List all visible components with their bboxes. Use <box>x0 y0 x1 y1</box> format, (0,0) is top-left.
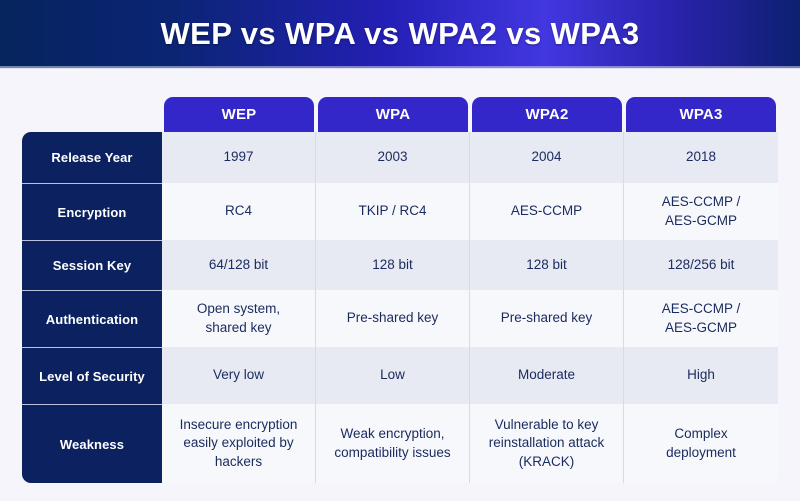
table-cell: RC4 <box>162 183 316 240</box>
row-label-session-key: Session Key <box>22 240 162 290</box>
cell-text: Moderate <box>518 366 575 384</box>
table-cell: Very low <box>162 347 316 404</box>
cell-text: 2018 <box>686 148 716 166</box>
column-header-wpa3: WPA3 <box>626 97 776 132</box>
table-cell: 2003 <box>316 132 470 183</box>
table-cell: 2018 <box>624 132 778 183</box>
table-cell: Open system,shared key <box>162 290 316 347</box>
row-label-weakness: Weakness <box>22 404 162 483</box>
cell-text: 1997 <box>223 148 253 166</box>
table-cell: AES-CCMP /AES-GCMP <box>624 290 778 347</box>
table-cell: Insecure encryptioneasily exploited byha… <box>162 404 316 483</box>
row-label-level-of-security: Level of Security <box>22 347 162 404</box>
row-label-encryption: Encryption <box>22 183 162 240</box>
cell-text: Pre-shared key <box>501 309 593 327</box>
cell-text: 2003 <box>377 148 407 166</box>
cell-text: Vulnerable to keyreinstallation attack(K… <box>489 416 605 471</box>
table-cell: 2004 <box>470 132 624 183</box>
table-cell: Pre-shared key <box>470 290 624 347</box>
cell-text: Open system,shared key <box>197 300 280 336</box>
table-cell: Pre-shared key <box>316 290 470 347</box>
cell-text: TKIP / RC4 <box>358 202 426 220</box>
table-cell: Moderate <box>470 347 624 404</box>
table-cell: Low <box>316 347 470 404</box>
table-cell: 128/256 bit <box>624 240 778 290</box>
comparison-table: WEPWPAWPA2WPA3Release Year19972003200420… <box>22 97 778 484</box>
cell-text: 128 bit <box>526 256 567 274</box>
cell-text: High <box>687 366 715 384</box>
column-header-wpa2: WPA2 <box>472 97 622 132</box>
cell-text: Pre-shared key <box>347 309 439 327</box>
table-corner-blank <box>22 97 162 132</box>
cell-text: 128/256 bit <box>668 256 735 274</box>
table-cell: 1997 <box>162 132 316 183</box>
cell-text: Weak encryption,compatibility issues <box>334 425 450 461</box>
cell-text: 64/128 bit <box>209 256 268 274</box>
cell-text: AES-CCMP <box>511 202 582 220</box>
cell-text: 2004 <box>531 148 561 166</box>
cell-text: Insecure encryptioneasily exploited byha… <box>180 416 298 471</box>
table-grid: WEPWPAWPA2WPA3Release Year19972003200420… <box>22 97 778 483</box>
cell-text: 128 bit <box>372 256 413 274</box>
row-label-release-year: Release Year <box>22 132 162 183</box>
banner-divider <box>0 66 800 69</box>
column-header-wep: WEP <box>164 97 314 132</box>
row-label-authentication: Authentication <box>22 290 162 347</box>
table-cell: High <box>624 347 778 404</box>
table-cell: AES-CCMP /AES-GCMP <box>624 183 778 240</box>
cell-text: Very low <box>213 366 264 384</box>
table-cell: 64/128 bit <box>162 240 316 290</box>
table-cell: AES-CCMP <box>470 183 624 240</box>
table-cell: 128 bit <box>470 240 624 290</box>
table-cell: Complexdeployment <box>624 404 778 483</box>
title-banner: WEP vs WPA vs WPA2 vs WPA3 <box>0 0 800 68</box>
cell-text: AES-CCMP /AES-GCMP <box>662 193 741 229</box>
table-cell: TKIP / RC4 <box>316 183 470 240</box>
cell-text: Complexdeployment <box>666 425 736 461</box>
table-cell: Vulnerable to keyreinstallation attack(K… <box>470 404 624 483</box>
cell-text: AES-CCMP /AES-GCMP <box>662 300 741 336</box>
cell-text: RC4 <box>225 202 252 220</box>
table-cell: 128 bit <box>316 240 470 290</box>
column-header-wpa: WPA <box>318 97 468 132</box>
table-cell: Weak encryption,compatibility issues <box>316 404 470 483</box>
page-title: WEP vs WPA vs WPA2 vs WPA3 <box>161 16 640 52</box>
cell-text: Low <box>380 366 405 384</box>
